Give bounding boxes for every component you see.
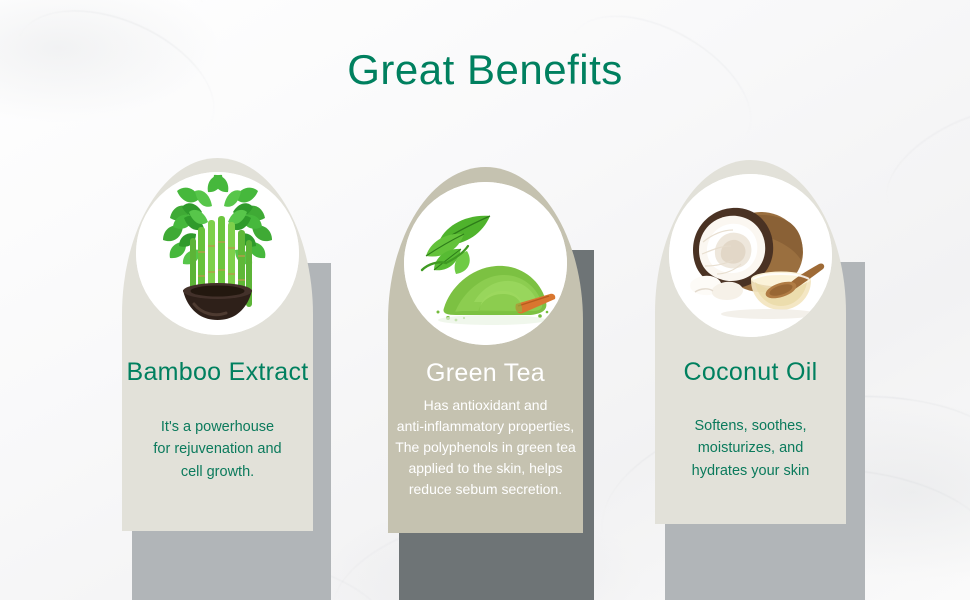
marble-vein <box>869 85 970 245</box>
benefit-card-coconut[interactable]: Coconut Oil Softens, soothes, moisturize… <box>655 160 846 524</box>
bamboo-plant-in-pot-photo <box>136 172 299 335</box>
card-description: Has antioxidant and anti-inflammatory pr… <box>388 395 583 500</box>
matcha-green-tea-powder-photo <box>404 182 567 345</box>
card-description: Softens, soothes, moisturizes, and hydra… <box>655 415 846 482</box>
card-title: Green Tea <box>388 359 583 388</box>
card-description: It's a powerhouse for rejuvenation and c… <box>122 416 313 483</box>
page-title: Great Benefits <box>0 46 970 94</box>
card-title: Coconut Oil <box>655 358 846 387</box>
benefit-card-bamboo[interactable]: Bamboo Extract It's a powerhouse for rej… <box>122 158 313 531</box>
coconut-and-oil-bowl-photo <box>669 174 832 337</box>
benefit-card-greentea[interactable]: Green Tea Has antioxidant and anti-infla… <box>388 167 583 533</box>
card-title: Bamboo Extract <box>122 358 313 387</box>
banner-background: Great Benefits <box>0 0 970 600</box>
